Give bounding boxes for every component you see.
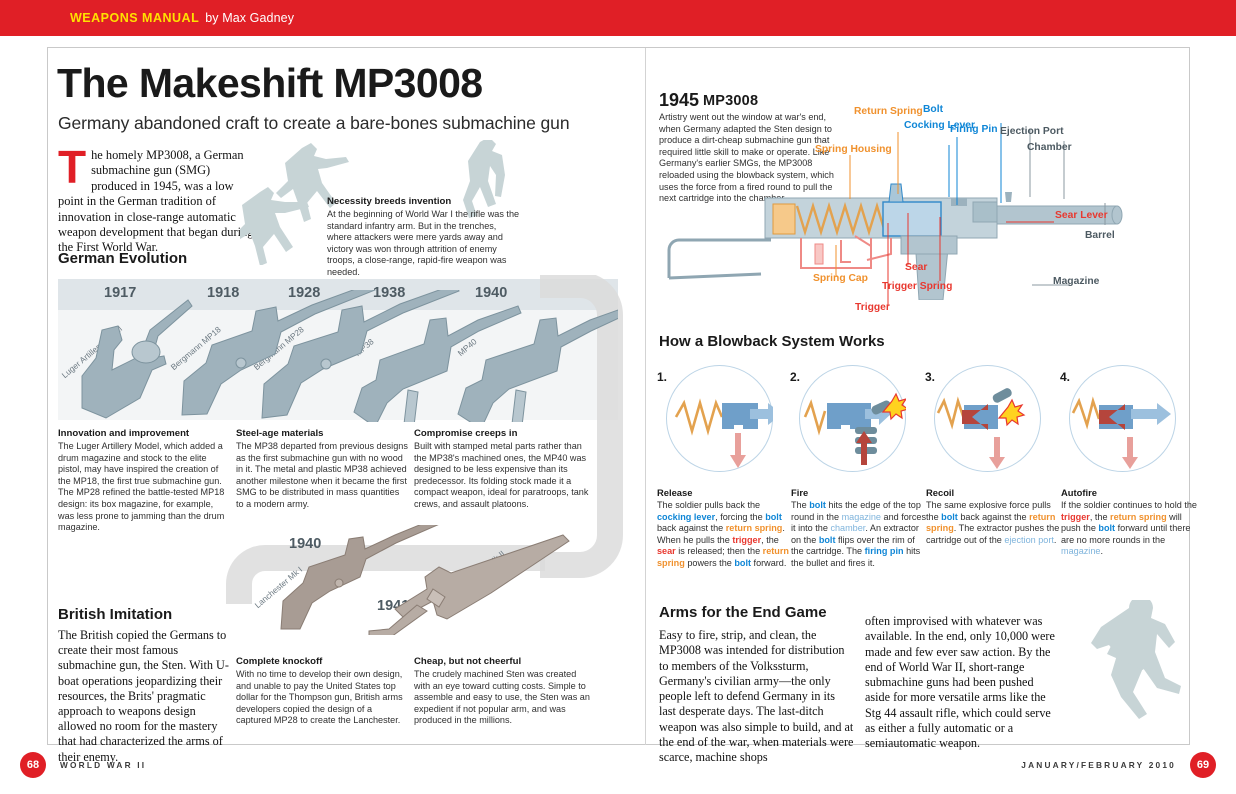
step-autofire-title: Autofire	[1061, 487, 1197, 498]
blowback-art-2	[799, 365, 906, 472]
label-chamber: Chamber	[1027, 142, 1072, 153]
section-kicker: WEAPONS MANUAL	[70, 11, 199, 25]
note-steel-age: Steel-age materials The MP38 departed fr…	[236, 428, 408, 511]
note-innovation-body: The Luger Artillery Model, which added a…	[58, 441, 230, 534]
step-fire-body: The bolt hits the edge of the top round …	[791, 500, 927, 570]
label-magazine: Magazine	[1053, 276, 1099, 287]
top-red-bar: WEAPONS MANUAL by Max Gadney	[0, 0, 1236, 36]
note-complete-knockoff: Complete knockoff With no time to develo…	[236, 656, 408, 727]
page-gutter-divider	[645, 48, 646, 745]
step-release-title: Release	[657, 487, 793, 498]
german-evolution-title: German Evolution	[58, 250, 187, 267]
note-cheap-not-cheerful: Cheap, but not cheerful The crudely mach…	[414, 656, 590, 727]
label-spring-cap: Spring Cap	[813, 273, 868, 284]
step-recoil-body: The same explosive force pulls the bolt …	[926, 500, 1062, 546]
note-compromise-body: Built with stamped metal parts rather th…	[414, 441, 590, 511]
german-gun-illustrations	[58, 290, 618, 422]
kneeling-soldier-silhouette	[1085, 600, 1195, 730]
page-number-left: 68	[20, 752, 46, 778]
label-firing-pin: Firing Pin	[950, 124, 997, 135]
intro-paragraph: The homely MP3008, a German submachine g…	[58, 148, 258, 256]
step-recoil-title: Recoil	[926, 487, 1062, 498]
end-game-column-2: often improvised with whatever was avail…	[865, 614, 1060, 752]
footer-publication: WORLD WAR II	[60, 760, 146, 770]
label-trigger: Trigger	[855, 302, 890, 313]
callout-title: Necessity breeds invention	[327, 196, 523, 207]
blowback-art-3	[934, 365, 1041, 472]
note-steel-age-body: The MP38 departed from previous designs …	[236, 441, 408, 511]
label-sear: Sear	[905, 262, 927, 273]
footer-issue-date: JANUARY/FEBRUARY 2010	[1021, 760, 1176, 770]
label-barrel: Barrel	[1085, 230, 1115, 241]
end-game-column-1: Easy to fire, strip, and clean, the MP30…	[659, 628, 854, 766]
label-trigger-spring: Trigger Spring	[882, 281, 952, 292]
drop-cap: T	[58, 150, 86, 184]
blowback-art-4	[1069, 365, 1176, 472]
end-game-title: Arms for the End Game	[659, 604, 827, 621]
step-release-body: The soldier pulls back the cocking lever…	[657, 500, 793, 570]
label-sear-lever: Sear Lever	[1055, 210, 1108, 221]
blowback-art-1	[666, 365, 773, 472]
note-innovation: Innovation and improvement The Luger Art…	[58, 428, 230, 534]
label-bolt: Bolt	[923, 104, 943, 115]
step-autofire: Autofire If the soldier continues to hol…	[1061, 487, 1197, 558]
blowback-section-title: How a Blowback System Works	[659, 333, 885, 350]
note-cheap-body: The crudely machined Sten was created wi…	[414, 669, 590, 727]
british-imitation-title: British Imitation	[58, 606, 172, 623]
step-release: Release The soldier pulls back the cocki…	[657, 487, 793, 570]
page-number-right: 69	[1190, 752, 1216, 778]
note-innovation-title: Innovation and improvement	[58, 428, 230, 439]
page-title: The Makeshift MP3008	[57, 60, 483, 107]
british-gun-illustrations	[255, 525, 585, 635]
callout-body: At the beginning of World War I the rifl…	[327, 209, 523, 279]
note-knockoff-body: With no time to develop their own design…	[236, 669, 408, 727]
step-fire: Fire The bolt hits the edge of the top r…	[791, 487, 927, 570]
byline: by Max Gadney	[205, 11, 294, 25]
step-autofire-body: If the soldier continues to hold the tri…	[1061, 500, 1197, 558]
note-compromise-title: Compromise creeps in	[414, 428, 590, 439]
topbar-content: WEAPONS MANUAL by Max Gadney	[70, 0, 294, 36]
note-steel-age-title: Steel-age materials	[236, 428, 408, 439]
note-compromise: Compromise creeps in Built with stamped …	[414, 428, 590, 511]
note-cheap-title: Cheap, but not cheerful	[414, 656, 590, 667]
callout-necessity: Necessity breeds invention At the beginn…	[327, 196, 523, 279]
label-ejection-port: Ejection Port	[1000, 126, 1064, 137]
page-subtitle: Germany abandoned craft to create a bare…	[58, 113, 569, 134]
step-fire-title: Fire	[791, 487, 927, 498]
intro-text: he homely MP3008, a German submachine gu…	[58, 148, 253, 254]
step-recoil: Recoil The same explosive force pulls th…	[926, 487, 1062, 546]
british-imitation-body: The British copied the Germans to create…	[58, 628, 236, 765]
label-return-spring: Return Spring	[854, 106, 923, 117]
label-spring-housing: Spring Housing	[815, 144, 892, 155]
note-knockoff-title: Complete knockoff	[236, 656, 408, 667]
